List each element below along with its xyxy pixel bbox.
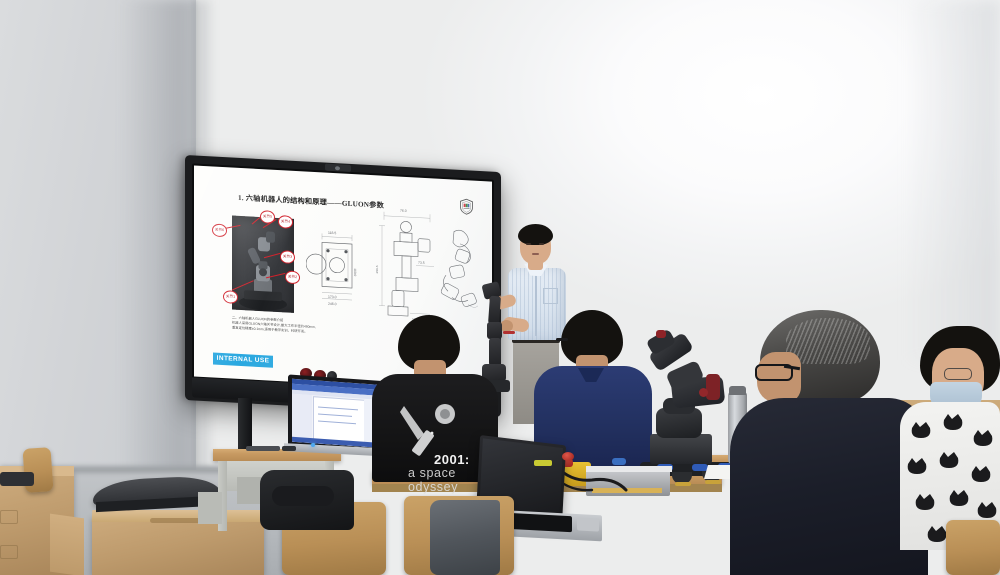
svg-text:118.5: 118.5 (328, 231, 336, 235)
robot-link-upper (488, 296, 501, 325)
callout-badge: 关节6 (212, 223, 227, 237)
robot-link-lower (489, 338, 501, 366)
presenter-eye (539, 243, 544, 245)
callout-badge: 关节2 (285, 270, 300, 284)
remote-control[interactable] (246, 446, 280, 451)
thermos-lid (729, 386, 746, 395)
presenter-hair (518, 224, 553, 245)
svg-text:173.0: 173.0 (328, 295, 337, 299)
chair-back (22, 447, 53, 493)
cardboard-box-side-flap (50, 514, 84, 575)
glasses-icon (944, 368, 972, 380)
callout-badge: 关节1 (223, 290, 238, 304)
svg-text:160.0: 160.0 (353, 268, 357, 276)
tshirt-text-line2: a space odyssey (408, 466, 458, 494)
presenter-mouth (532, 253, 539, 255)
laptop-trackpad[interactable] (577, 517, 599, 531)
chair-seat (0, 472, 34, 486)
attendee-shirt (730, 398, 928, 575)
slide-robot-photo (232, 216, 294, 313)
robot-accent-red (706, 374, 720, 400)
yellow-tool (534, 460, 552, 466)
robot-joint-mid (487, 322, 502, 339)
internal-use-badge: INTERNAL USE (213, 353, 273, 368)
red-button-spare (562, 452, 574, 461)
company-logo-icon (459, 198, 474, 216)
cad-top-view: 118.5 173.0 246.0 160.0 (306, 224, 368, 323)
jacket (430, 500, 500, 575)
svg-text:296.5: 296.5 (376, 265, 379, 273)
desk-shelf (198, 492, 222, 524)
callout-badge: 关节3 (280, 250, 295, 264)
cad-iso-view (434, 222, 486, 317)
svg-text:73.5: 73.5 (418, 261, 425, 265)
cardboard-box-open (92, 516, 264, 575)
robot-accent-red (656, 330, 666, 338)
svg-text:76.0: 76.0 (400, 209, 407, 213)
svg-text:246.0: 246.0 (328, 302, 337, 306)
robot-joint-marker (699, 388, 708, 397)
blue-connector (612, 458, 626, 465)
shirt-placket (535, 272, 537, 336)
callout-badge: 关节5 (260, 210, 275, 224)
camera-icon (335, 166, 340, 170)
cad-front-view: 76.0 296.5 73.5 124.0 (376, 203, 440, 324)
wrist-band (503, 331, 515, 334)
presenter-eye (526, 243, 531, 245)
status-led-icon (311, 443, 315, 447)
right-wall-shading (905, 0, 1000, 360)
callout-badge: 关节4 (278, 215, 293, 229)
classroom-scene: 1. 六轴机器人的结构和原理——GLUON参数 (0, 0, 1000, 575)
box-handle (0, 545, 18, 559)
glasses-icon (556, 338, 568, 341)
chair-back (946, 520, 1000, 575)
shirt-pocket (543, 288, 558, 304)
backpack-pocket (272, 486, 334, 506)
box-handle (0, 510, 18, 524)
suction-ring (705, 480, 721, 484)
tshirt-text-line1: 2001: (434, 452, 470, 467)
desk-accessory (282, 446, 296, 451)
